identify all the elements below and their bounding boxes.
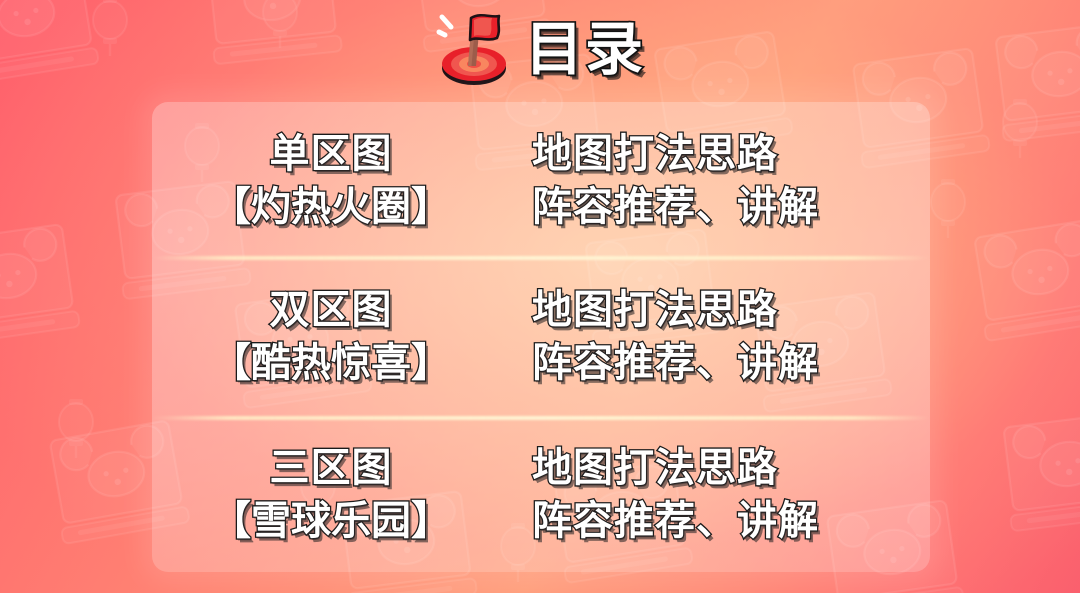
contents-row[interactable]: 单区图 【灼热火圈】 地图打法思路 阵容推荐、讲解 xyxy=(152,106,930,256)
description-line-1: 地图打法思路 xyxy=(532,130,778,179)
slide-canvas: 目录 单区图 【灼热火圈】 地图打法思路 阵容推荐、讲解 双区图 【酷热惊喜】 … xyxy=(0,0,1080,593)
row-divider xyxy=(152,256,930,260)
map-title: 三区图 xyxy=(270,444,393,493)
description-line-1: 地图打法思路 xyxy=(532,286,778,335)
description-line-2: 阵容推荐、讲解 xyxy=(532,183,819,232)
map-subtitle: 【酷热惊喜】 xyxy=(211,339,451,388)
row-map-name: 三区图 【雪球乐园】 xyxy=(152,444,504,546)
contents-row[interactable]: 三区图 【雪球乐园】 地图打法思路 阵容推荐、讲解 xyxy=(152,420,930,570)
map-title: 双区图 xyxy=(270,286,393,335)
description-line-2: 阵容推荐、讲解 xyxy=(532,497,819,546)
contents-row[interactable]: 双区图 【酷热惊喜】 地图打法思路 阵容推荐、讲解 xyxy=(152,262,930,412)
row-map-name: 双区图 【酷热惊喜】 xyxy=(152,286,504,388)
description-line-2: 阵容推荐、讲解 xyxy=(532,339,819,388)
row-description: 地图打法思路 阵容推荐、讲解 xyxy=(504,130,924,232)
slide-header: 目录 xyxy=(0,4,1080,96)
map-subtitle: 【雪球乐园】 xyxy=(211,497,451,546)
map-title: 单区图 xyxy=(270,130,393,179)
row-map-name: 单区图 【灼热火圈】 xyxy=(152,130,504,232)
page-title: 目录 xyxy=(525,21,645,79)
target-dart-icon xyxy=(435,10,511,90)
contents-panel: 单区图 【灼热火圈】 地图打法思路 阵容推荐、讲解 双区图 【酷热惊喜】 地图打… xyxy=(152,102,930,572)
row-description: 地图打法思路 阵容推荐、讲解 xyxy=(504,286,924,388)
description-line-1: 地图打法思路 xyxy=(532,444,778,493)
map-subtitle: 【灼热火圈】 xyxy=(211,183,451,232)
row-description: 地图打法思路 阵容推荐、讲解 xyxy=(504,444,924,546)
